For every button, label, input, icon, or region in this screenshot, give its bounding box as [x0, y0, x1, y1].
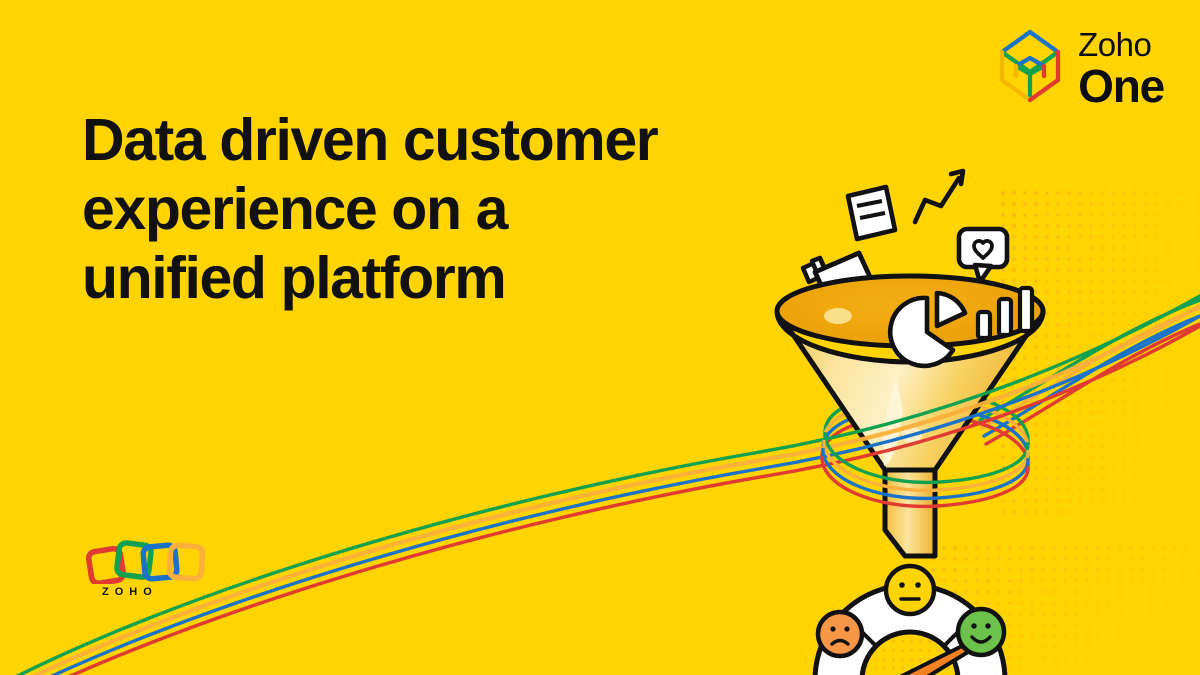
zoho-wordmark: ZOHO — [74, 586, 214, 598]
zoho-one-cube-icon — [994, 26, 1066, 111]
poster-canvas: Data driven customer experience on a uni… — [0, 0, 1200, 675]
sad-face-icon — [818, 612, 862, 656]
heart-chat-bubble-icon — [959, 229, 1007, 282]
zoho-squares-icon — [74, 536, 214, 584]
bar-chart-icon — [978, 288, 1032, 338]
satisfaction-gauge — [815, 566, 1005, 675]
zoho-one-logo[interactable]: Zoho One — [994, 26, 1164, 111]
zoho-one-wordmark: Zoho One — [1078, 28, 1164, 109]
halftone-texture — [1000, 190, 1200, 520]
ribbon-lines-main — [0, 296, 1200, 675]
funnel-graphic — [777, 276, 1043, 556]
document-icon — [848, 187, 895, 239]
halftone-texture-gauge — [930, 545, 1200, 675]
growth-arrow-icon — [915, 171, 963, 222]
zoho-one-line1: Zoho — [1078, 28, 1151, 61]
pie-chart-icon — [890, 293, 965, 366]
zoho-logo[interactable]: ZOHO — [74, 536, 214, 598]
neutral-face-icon — [886, 566, 934, 614]
ribbon-lines-back — [980, 300, 1200, 444]
megaphone-icon — [803, 253, 891, 320]
zoho-one-line2: One — [1078, 63, 1164, 109]
happy-face-icon — [958, 609, 1004, 655]
page-title: Data driven customer experience on a uni… — [82, 106, 782, 313]
ribbon-loop-front — [822, 432, 1028, 506]
ribbon-loop-back — [822, 391, 1028, 466]
